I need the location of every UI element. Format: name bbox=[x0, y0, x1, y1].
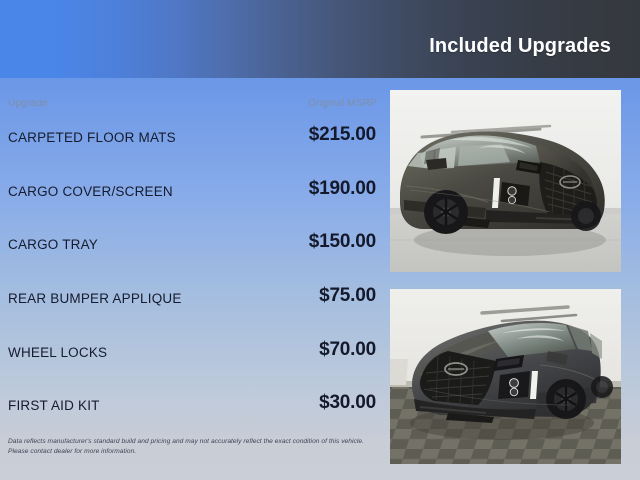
table-row: REAR BUMPER APPLIQUE $75.00 bbox=[0, 283, 380, 337]
vehicle-image-1 bbox=[390, 90, 621, 272]
table-row: CARGO COVER/SCREEN $190.00 bbox=[0, 176, 380, 230]
upgrade-name: REAR BUMPER APPLIQUE bbox=[8, 291, 182, 306]
upgrade-name: FIRST AID KIT bbox=[8, 398, 100, 413]
included-upgrades-table: Upgrade Original MSRP CARPETED FLOOR MAT… bbox=[0, 92, 380, 444]
upgrade-name: CARGO COVER/SCREEN bbox=[8, 184, 173, 199]
upgrade-price: $70.00 bbox=[319, 339, 376, 361]
table-header-row: Upgrade Original MSRP bbox=[0, 92, 380, 122]
table-row: WHEEL LOCKS $70.00 bbox=[0, 337, 380, 391]
upgrade-name: CARPETED FLOOR MATS bbox=[8, 130, 176, 145]
vehicle-photo-front-three-quarter bbox=[390, 90, 621, 272]
upgrade-price: $30.00 bbox=[319, 392, 376, 414]
upgrade-price: $190.00 bbox=[309, 178, 376, 200]
table-row: CARGO TRAY $150.00 bbox=[0, 229, 380, 283]
vehicle-image-2 bbox=[390, 289, 621, 464]
column-header-upgrade: Upgrade bbox=[8, 98, 48, 109]
column-header-msrp: Original MSRP bbox=[308, 98, 377, 109]
vehicle-photo-front-left-angle bbox=[390, 289, 621, 464]
upgrade-price: $75.00 bbox=[319, 285, 376, 307]
page-title: Included Upgrades bbox=[429, 21, 640, 58]
page-header: Included Upgrades bbox=[0, 0, 640, 78]
upgrade-name: WHEEL LOCKS bbox=[8, 345, 107, 360]
disclaimer-text: Data reflects manufacturer's standard bu… bbox=[8, 437, 370, 457]
table-row: CARPETED FLOOR MATS $215.00 bbox=[0, 122, 380, 176]
upgrade-name: CARGO TRAY bbox=[8, 237, 98, 252]
upgrade-price: $215.00 bbox=[309, 124, 376, 146]
upgrade-price: $150.00 bbox=[309, 231, 376, 253]
